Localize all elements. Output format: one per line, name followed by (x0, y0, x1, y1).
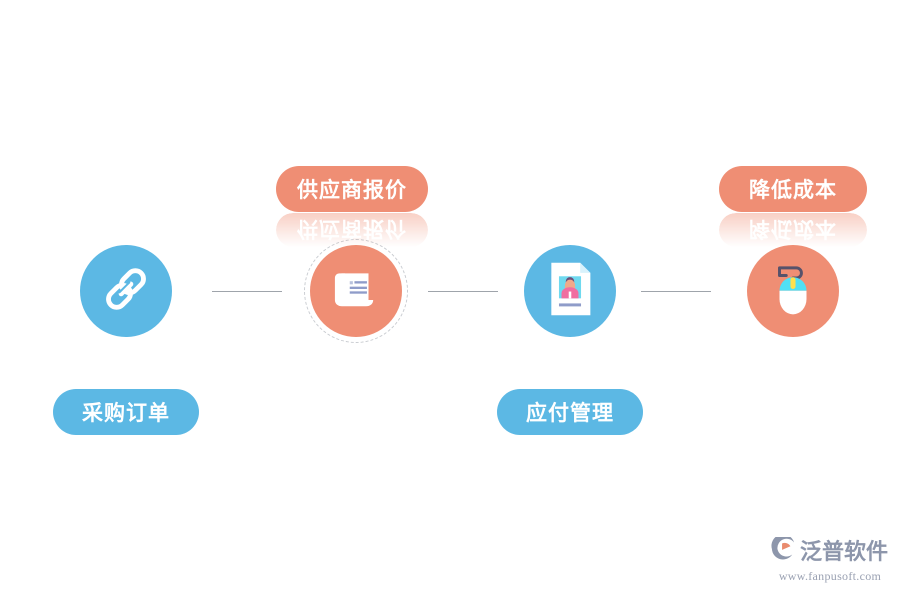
label-reduce-cost-reflection: 降低成本 (719, 213, 867, 247)
node-reduce-cost[interactable] (747, 245, 839, 337)
node-payable-management[interactable] (524, 245, 616, 337)
connector-line-3 (641, 291, 711, 292)
label-reduce-cost[interactable]: 降低成本 (719, 166, 867, 212)
watermark-brand-row: 泛普软件 (770, 537, 890, 566)
label-supplier-quote[interactable]: 供应商报价 (276, 166, 428, 212)
fanpu-logo-icon (770, 537, 796, 566)
node-purchase-order[interactable] (80, 245, 172, 337)
watermark-brand-text: 泛普软件 (800, 541, 888, 563)
watermark: 泛普软件 www.fanpusoft.com (770, 537, 890, 593)
chain-link-icon (100, 263, 152, 320)
connector-line-1 (212, 291, 282, 292)
label-purchase-order[interactable]: 采购订单 (53, 389, 199, 435)
id-card-document-icon (546, 261, 594, 322)
connector-line-2 (428, 291, 498, 292)
computer-mouse-icon (769, 262, 817, 321)
reflection-text: 降低成本 (719, 213, 867, 247)
label-payable-management[interactable]: 应付管理 (497, 389, 643, 435)
node-supplier-quote[interactable] (310, 245, 402, 337)
flow-diagram-canvas: 供应商报价 供应商报价 降低成本 降低成本 采购订单 应付管理 泛普软件 www… (0, 0, 900, 600)
watermark-url: www.fanpusoft.com (770, 569, 890, 584)
scroll-document-icon (331, 264, 381, 319)
